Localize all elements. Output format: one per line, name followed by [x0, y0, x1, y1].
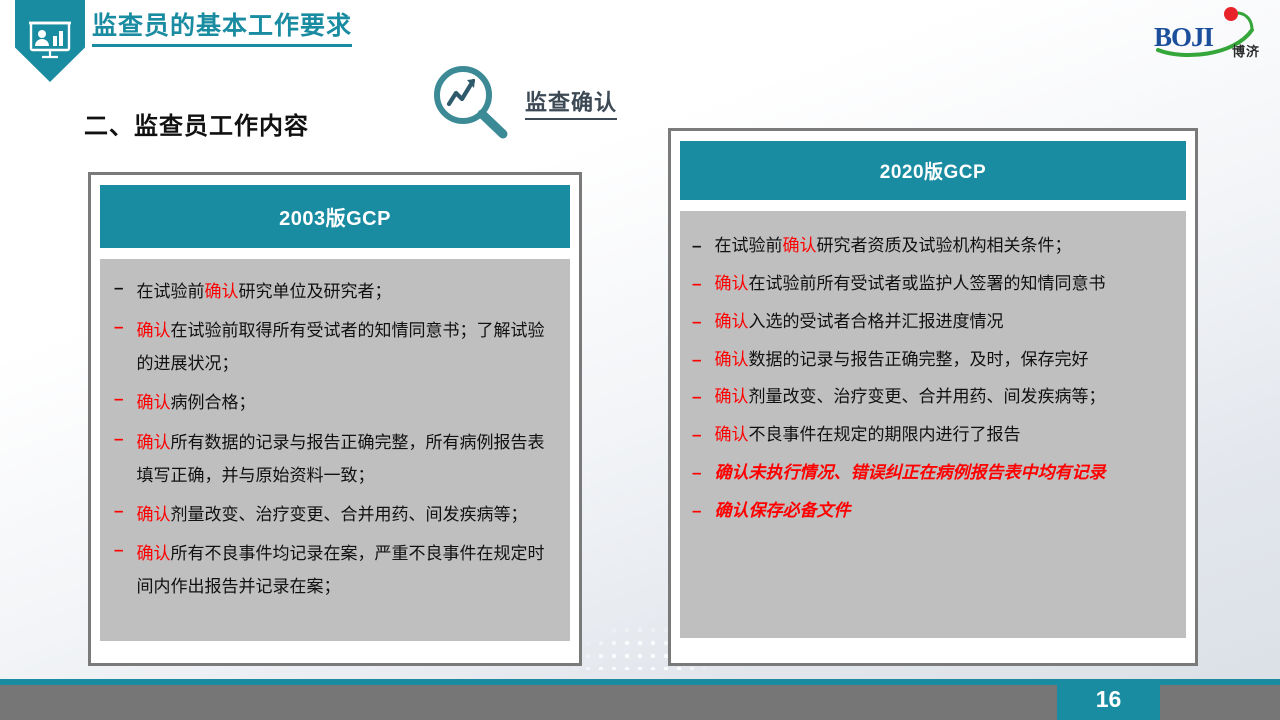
bullet-text-run: 确认: [136, 505, 170, 524]
bullet-text: 在试验前确认研究单位及研究者；: [136, 275, 554, 308]
bullet-dash: –: [692, 347, 701, 373]
bullet-text: 在试验前确认研究者资质及试验机构相关条件；: [714, 233, 1168, 260]
bullet-text-run: 确认: [714, 350, 748, 369]
bullet-text: 确认所有不良事件均记录在案，严重不良事件在规定时间内作出报告并记录在案；: [136, 537, 554, 603]
bullet-text-run: 确认: [714, 425, 748, 444]
bullet-item: –确认数据的记录与报告正确完整，及时，保存完好: [692, 347, 1168, 374]
bullet-text: 确认病例合格；: [136, 386, 554, 419]
logo-wordmark-cn: 博济: [1232, 41, 1260, 60]
bullet-item: –确认所有数据的记录与报告正确完整，所有病例报告表填写正确，并与原始资料一致；: [114, 426, 554, 492]
bullet-dash: –: [692, 271, 701, 297]
slide: 监查员的基本工作要求 BOJI 博济 二、监查员工作内容 监查确认 2003版G…: [0, 0, 1280, 720]
bullet-text-run: 研究单位及研究者；: [238, 282, 391, 301]
panel-gcp-2003: 2003版GCP –在试验前确认研究单位及研究者；–确认在试验前取得所有受试者的…: [88, 172, 582, 666]
bullet-dash: –: [692, 460, 701, 486]
bullet-dash: –: [692, 422, 701, 448]
bullet-item: –确认保存必备文件: [692, 498, 1168, 525]
bullet-text: 确认入选的受试者合格并汇报进度情况: [714, 309, 1168, 336]
bullet-text-run: 研究者资质及试验机构相关条件；: [816, 236, 1071, 255]
bullet-text-run: 确认: [136, 393, 170, 412]
left-bullet-list: –在试验前确认研究单位及研究者；–确认在试验前取得所有受试者的知情同意书；了解试…: [114, 275, 554, 603]
monitor-confirm-badge: 监查确认: [425, 62, 675, 144]
bullet-text-run: 病例合格；: [170, 393, 255, 412]
bullet-dash: –: [692, 384, 701, 410]
bullet-text-run: 在试验前: [714, 236, 782, 255]
bullet-text-run: 剂量改变、治疗变更、合并用药、间发疾病等；: [170, 505, 527, 524]
bullet-item: –确认所有不良事件均记录在案，严重不良事件在规定时间内作出报告并记录在案；: [114, 537, 554, 603]
bullet-text-run: 确认: [136, 433, 170, 452]
bullet-text: 确认保存必备文件: [714, 498, 1168, 525]
bullet-text-run: 确认未执行情况、错误纠正在病例报告表中均有记录: [714, 463, 1105, 482]
presentation-chart-icon: [28, 20, 72, 60]
bullet-dash: –: [114, 498, 123, 524]
badge-label: 监查确认: [525, 85, 617, 120]
panel-right-title: 2020版GCP: [680, 141, 1186, 200]
bullet-text-run: 入选的受试者合格并汇报进度情况: [748, 312, 1003, 331]
bullet-text-run: 确认: [714, 274, 748, 293]
bullet-text-run: 确认: [714, 387, 748, 406]
bullet-text-run: 确认: [714, 312, 748, 331]
bullet-item: –在试验前确认研究者资质及试验机构相关条件；: [692, 233, 1168, 260]
bullet-text-run: 在试验前所有受试者或监护人签署的知情同意书: [748, 274, 1105, 293]
right-bullet-list: –在试验前确认研究者资质及试验机构相关条件；–确认在试验前所有受试者或监护人签署…: [692, 233, 1168, 525]
page-title: 监查员的基本工作要求: [92, 6, 352, 47]
bullet-text: 确认不良事件在规定的期限内进行了报告: [714, 422, 1168, 449]
bullet-text-run: 确认: [136, 544, 170, 563]
panel-gcp-2020: 2020版GCP –在试验前确认研究者资质及试验机构相关条件；–确认在试验前所有…: [668, 128, 1198, 666]
header-tab-shape: [15, 0, 85, 82]
bullet-item: –确认在试验前取得所有受试者的知情同意书；了解试验的进展状况；: [114, 314, 554, 380]
bullet-dash: –: [114, 386, 123, 412]
bullet-text: 确认所有数据的记录与报告正确完整，所有病例报告表填写正确，并与原始资料一致；: [136, 426, 554, 492]
bullet-text-run: 不良事件在规定的期限内进行了报告: [748, 425, 1020, 444]
bullet-dash: –: [114, 275, 123, 301]
section-heading: 二、监查员工作内容: [84, 106, 309, 141]
page-number-badge: 16: [1057, 679, 1160, 720]
bullet-item: –在试验前确认研究单位及研究者；: [114, 275, 554, 308]
bullet-text-run: 所有数据的记录与报告正确完整，所有病例报告表填写正确，并与原始资料一致；: [136, 433, 544, 485]
bullet-text-run: 数据的记录与报告正确完整，及时，保存完好: [748, 350, 1088, 369]
brand-logo: BOJI 博济: [1148, 6, 1266, 62]
bullet-text-run: 确认: [204, 282, 238, 301]
bullet-dash: –: [692, 498, 701, 524]
bullet-item: –确认剂量改变、治疗变更、合并用药、间发疾病等；: [114, 498, 554, 531]
bullet-item: –确认在试验前所有受试者或监护人签署的知情同意书: [692, 271, 1168, 298]
bullet-dash: –: [114, 537, 123, 563]
bullet-text-run: 所有不良事件均记录在案，严重不良事件在规定时间内作出报告并记录在案；: [136, 544, 544, 596]
bullet-text: 确认在试验前取得所有受试者的知情同意书；了解试验的进展状况；: [136, 314, 554, 380]
bullet-item: –确认不良事件在规定的期限内进行了报告: [692, 422, 1168, 449]
bullet-item: –确认入选的受试者合格并汇报进度情况: [692, 309, 1168, 336]
panel-right-body: –在试验前确认研究者资质及试验机构相关条件；–确认在试验前所有受试者或监护人签署…: [680, 211, 1186, 638]
bullet-text-run: 确认: [782, 236, 816, 255]
bullet-dash: –: [114, 426, 123, 452]
bullet-text: 确认数据的记录与报告正确完整，及时，保存完好: [714, 347, 1168, 374]
panel-left-body: –在试验前确认研究单位及研究者；–确认在试验前取得所有受试者的知情同意书；了解试…: [100, 259, 570, 641]
bullet-text-run: 在试验前: [136, 282, 204, 301]
logo-wordmark: BOJI: [1154, 22, 1213, 53]
bullet-item: –确认剂量改变、治疗变更、合并用药、间发疾病等；: [692, 384, 1168, 411]
bullet-text: 确认在试验前所有受试者或监护人签署的知情同意书: [714, 271, 1168, 298]
bullet-text-run: 确认: [136, 321, 170, 340]
bullet-item: –确认病例合格；: [114, 386, 554, 419]
bullet-text-run: 确认保存必备文件: [714, 501, 850, 520]
bullet-item: –确认未执行情况、错误纠正在病例报告表中均有记录: [692, 460, 1168, 487]
bullet-text: 确认剂量改变、治疗变更、合并用药、间发疾病等；: [136, 498, 554, 531]
bullet-text: 确认剂量改变、治疗变更、合并用药、间发疾病等；: [714, 384, 1168, 411]
magnifier-trend-icon: [425, 62, 517, 144]
bullet-dash: –: [692, 309, 701, 335]
panel-left-title: 2003版GCP: [100, 185, 570, 248]
bullet-text: 确认未执行情况、错误纠正在病例报告表中均有记录: [714, 460, 1168, 487]
bullet-text-run: 在试验前取得所有受试者的知情同意书；了解试验的进展状况；: [136, 321, 544, 373]
bullet-dash: –: [114, 314, 123, 340]
bullet-text-run: 剂量改变、治疗变更、合并用药、间发疾病等；: [748, 387, 1105, 406]
bullet-dash: –: [692, 233, 701, 259]
